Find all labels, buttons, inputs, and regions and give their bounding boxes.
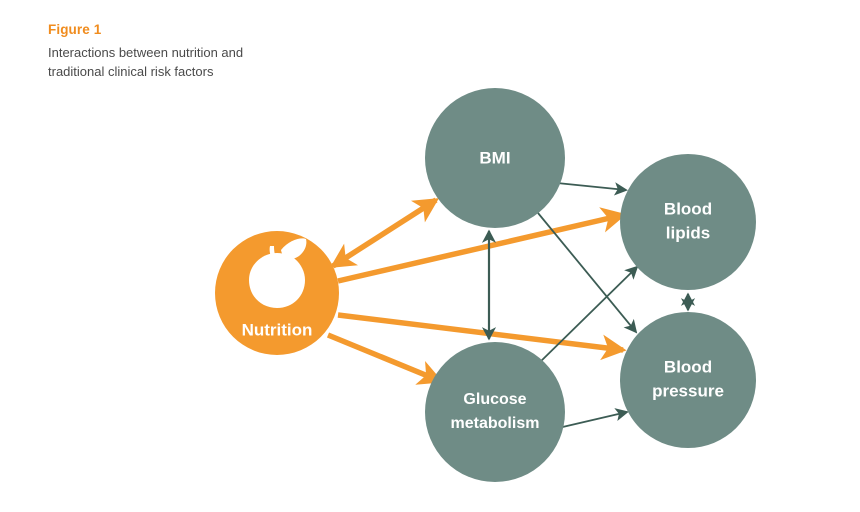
node-layer: BMI Blood lipids Glucose metabolism Bloo… xyxy=(215,88,756,482)
node-glucose-metabolism[interactable]: Glucose metabolism xyxy=(425,342,565,482)
interaction-diagram: BMI Blood lipids Glucose metabolism Bloo… xyxy=(0,0,860,512)
node-bmi[interactable]: BMI xyxy=(425,88,565,228)
node-blood-pressure-circle[interactable] xyxy=(620,312,756,448)
node-glucose-metabolism-label-line-1: Glucose xyxy=(463,391,526,408)
edge-nutrition-bmi[interactable] xyxy=(333,200,436,266)
node-glucose-metabolism-circle[interactable] xyxy=(425,342,565,482)
node-bmi-label: BMI xyxy=(479,148,510,167)
node-blood-lipids-label-line-2: lipids xyxy=(666,223,710,242)
node-blood-lipids-label-line-1: Blood xyxy=(664,199,712,218)
node-blood-lipids[interactable]: Blood lipids xyxy=(620,154,756,290)
node-blood-lipids-circle[interactable] xyxy=(620,154,756,290)
edge-bmi-blood-lipids[interactable] xyxy=(557,183,626,190)
node-blood-pressure[interactable]: Blood pressure xyxy=(620,312,756,448)
edge-nutrition-glucose-metabolism[interactable] xyxy=(328,335,440,381)
figure-root: Figure 1 Interactions between nutrition … xyxy=(0,0,860,512)
node-blood-pressure-label-line-2: pressure xyxy=(652,381,724,400)
node-blood-pressure-label-line-1: Blood xyxy=(664,357,712,376)
node-nutrition-label: Nutrition xyxy=(242,320,313,339)
node-nutrition[interactable]: Nutrition xyxy=(215,231,339,355)
node-glucose-metabolism-label-line-2: metabolism xyxy=(451,415,540,432)
